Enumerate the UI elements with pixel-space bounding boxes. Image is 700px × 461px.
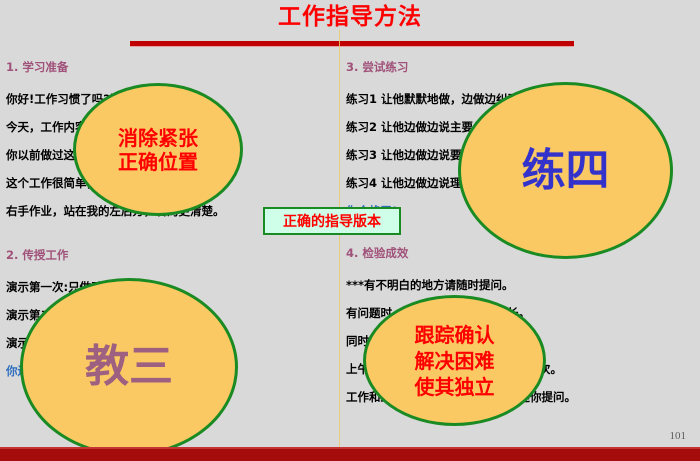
callout-label: 正确的指导版本 bbox=[283, 211, 381, 231]
annotation-text: 正确位置 bbox=[118, 150, 198, 174]
column-divider-line bbox=[339, 30, 340, 458]
bottom-bar bbox=[0, 449, 700, 461]
slide-canvas: 工作指导方法 1. 学习准备你好!工作习惯了吗?请放松身体。今天，工作内容是xx… bbox=[0, 0, 700, 461]
section-heading: 3. 尝试练习 bbox=[346, 60, 696, 74]
annotation-text: 使其独立 bbox=[415, 374, 495, 400]
annotation-text: 跟踪确认 bbox=[415, 322, 495, 348]
page-number: 101 bbox=[670, 430, 687, 442]
annotation-ellipse-practice-four: 练四 bbox=[458, 82, 673, 259]
annotation-ellipse-teach-three: 教三 bbox=[20, 278, 238, 456]
title-underline-rule bbox=[130, 41, 574, 46]
annotation-text: 教三 bbox=[85, 343, 173, 391]
page-title: 工作指导方法 bbox=[0, 2, 700, 32]
annotation-text: 消除紧张 bbox=[118, 126, 198, 150]
section-heading: 1. 学习准备 bbox=[6, 60, 336, 74]
annotation-text: 解决困难 bbox=[415, 348, 495, 374]
section-heading: 2. 传授工作 bbox=[6, 248, 336, 262]
annotation-ellipse-follow-up-confirm: 跟踪确认解决困难使其独立 bbox=[363, 295, 546, 426]
annotation-ellipse-relax-position: 消除紧张正确位置 bbox=[73, 83, 243, 216]
annotation-text: 练四 bbox=[522, 147, 610, 195]
body-line: ***有不明白的地方请随时提问。 bbox=[346, 278, 696, 292]
callout-correct-version: 正确的指导版本 bbox=[263, 207, 401, 235]
